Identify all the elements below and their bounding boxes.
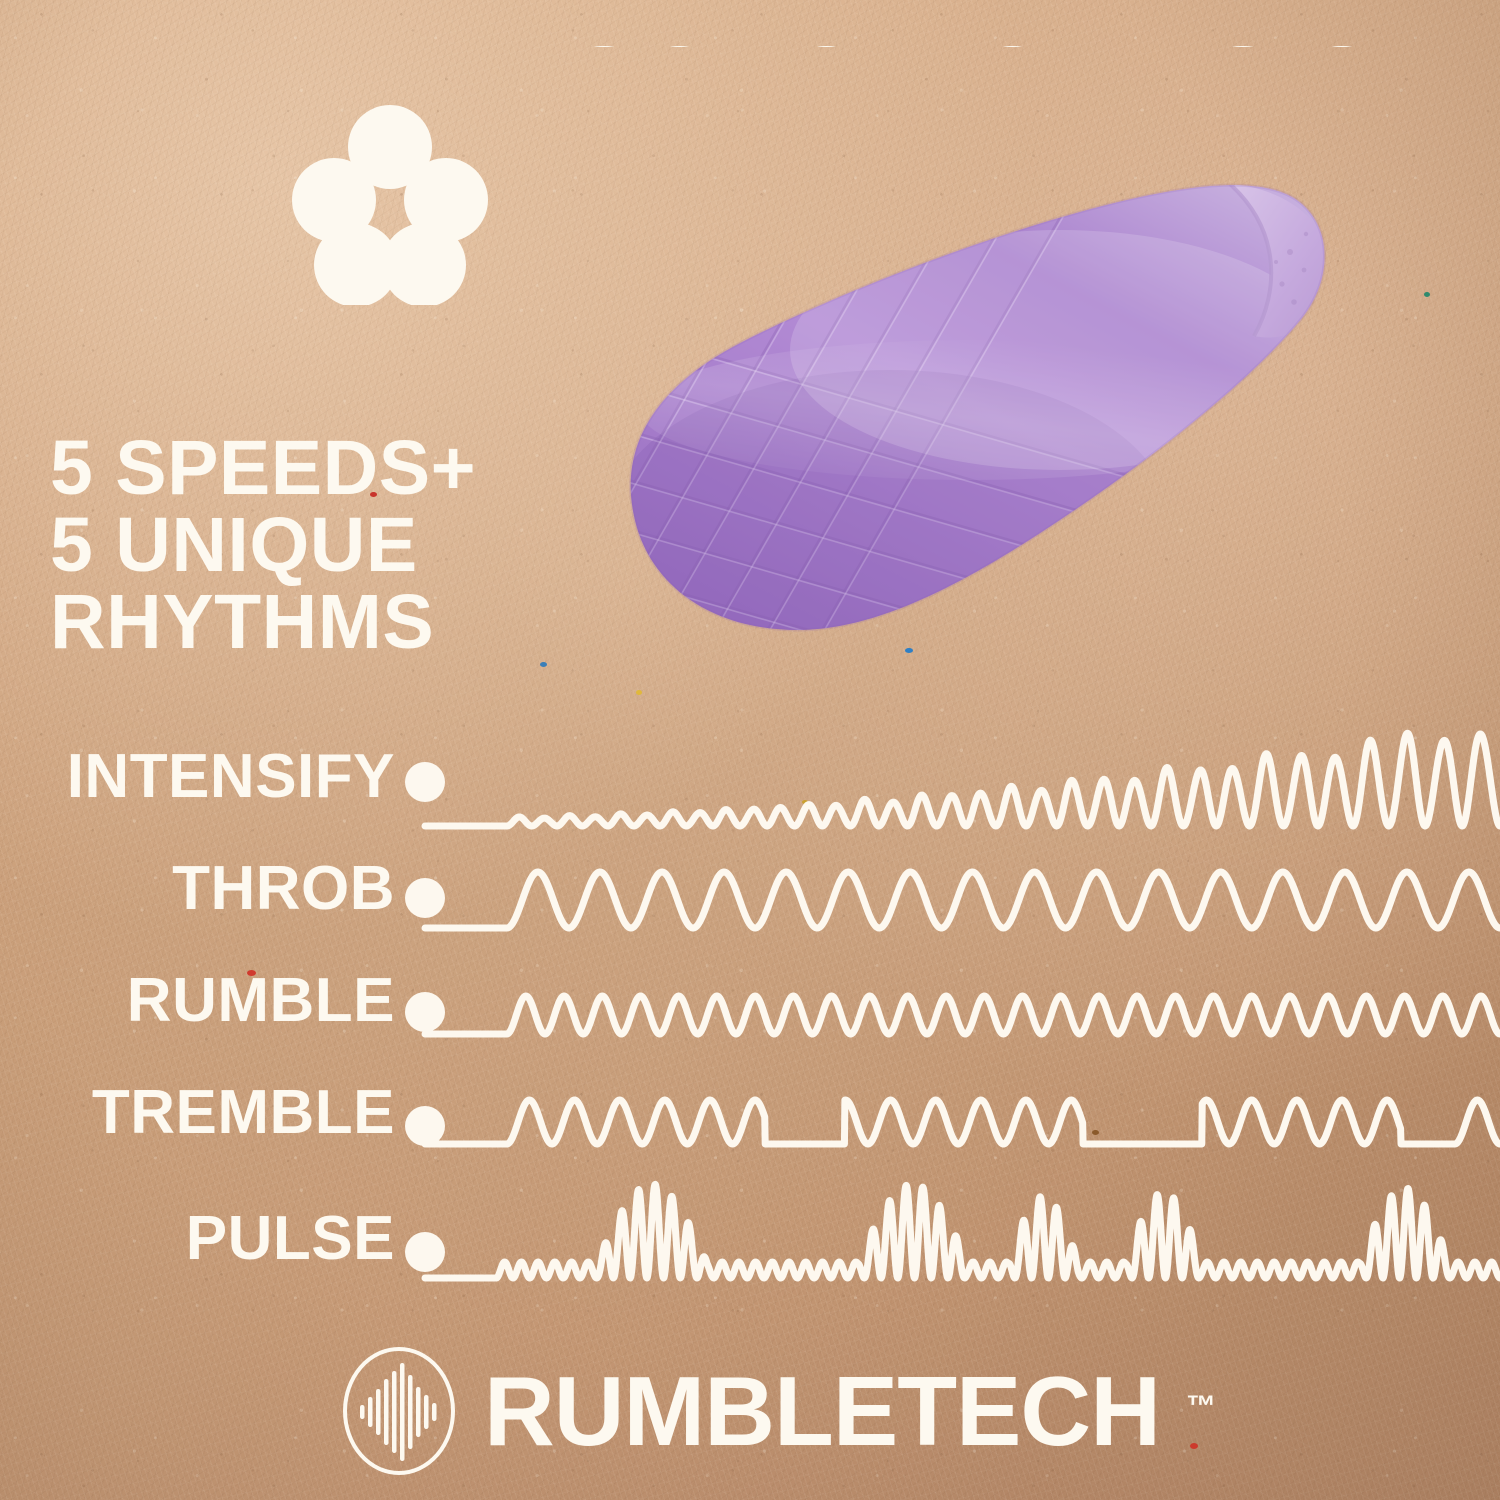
paper-fleck (636, 690, 642, 695)
paper-fleck (905, 648, 913, 653)
page-title-text: ERGONOMIC DESIGN (430, 46, 1451, 67)
brand-name-wrapper: RUMBLETECH ™ (484, 1362, 1160, 1460)
product-infographic: ERGONOMIC DESIGN (0, 0, 1500, 1500)
rhythm-label-intensify: INTENSIFY (0, 746, 395, 808)
waveform-intensify (405, 730, 1500, 842)
waveform-tremble (405, 1066, 1500, 1178)
waveform-rumble (405, 954, 1500, 1066)
trademark-symbol: ™ (1186, 1358, 1216, 1456)
rhythm-row-throb: THROB (0, 842, 1500, 954)
feature-line-2: 5 UNIQUE (50, 507, 476, 584)
feature-line-3: RHYTHMS (50, 584, 476, 661)
rhythm-label-throb: THROB (0, 858, 395, 920)
feature-text-block: 5 SPEEDS+ 5 UNIQUE RHYTHMS (50, 430, 476, 661)
rhythm-row-intensify: INTENSIFY (0, 730, 1500, 842)
rhythm-label-tremble: TREMBLE (0, 1082, 395, 1144)
brand-name: RUMBLETECH (484, 1356, 1160, 1466)
feature-line-1: 5 SPEEDS+ (50, 430, 476, 507)
rhythm-row-rumble: RUMBLE (0, 954, 1500, 1066)
rhythm-row-tremble: TREMBLE (0, 1066, 1500, 1178)
rhythm-label-rumble: RUMBLE (0, 970, 395, 1032)
page-title: ERGONOMIC DESIGN (430, 46, 1500, 256)
audio-waveform-equalizer-icon (340, 1345, 458, 1477)
rhythm-label-pulse: PULSE (0, 1208, 395, 1270)
rhythm-row-pulse: PULSE (0, 1190, 1500, 1302)
brand-lockup: RUMBLETECH ™ (0, 1336, 1500, 1486)
waveform-pulse (405, 1190, 1500, 1302)
rhythm-chart: INTENSIFY THROB RUMBLE TREMBLE (0, 730, 1500, 1290)
paper-fleck (1424, 292, 1430, 297)
paper-fleck (540, 662, 547, 667)
waveform-throb (405, 842, 1500, 954)
